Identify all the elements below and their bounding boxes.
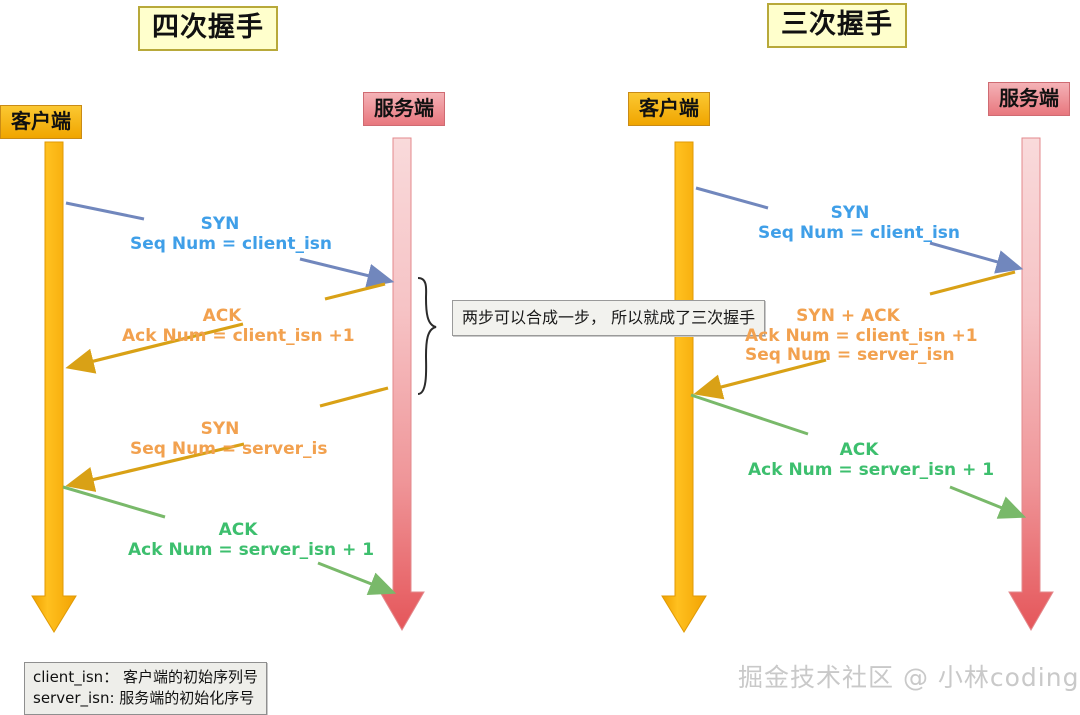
merge-note: 两步可以合成一步， 所以就成了三次握手 [452,300,765,336]
left-message-syn-line-1: Seq Num = client_isn [130,235,310,255]
right-client-label: 客户端 [628,92,710,126]
isn-legend-row-client: client_isn： 客户端的初始序列号 [33,667,258,688]
right-message-syn-ack: SYN + ACK Ack Num = client_isn +1 Seq Nu… [745,307,951,366]
right-message-syn-ack-flag: SYN + ACK [745,307,951,327]
merge-note-line-1: 两步可以合成一步， [462,308,606,327]
right-message-syn-line-1: Seq Num = client_isn [758,224,942,244]
right-message-syn: SYN Seq Num = client_isn [758,204,942,243]
left-message-syn2-line-1: Seq Num = server_is [130,440,310,460]
left-client-timeline [32,142,76,632]
left-message-syn2: SYN Seq Num = server_is [130,420,310,459]
left-message-syn2-flag: SYN [130,420,310,440]
left-message-ack-flag: ACK [122,307,322,327]
right-message-ack: ACK Ack Num = server_isn + 1 [748,441,970,480]
left-message-ack2-flag: ACK [128,521,348,541]
right-server-timeline [1009,138,1053,630]
left-client-label: 客户端 [0,105,82,139]
isn-legend-row-server: server_isn: 服务端的初始化序号 [33,688,258,709]
merge-note-line-2: 所以就成了三次握手 [611,308,755,327]
isn-legend: client_isn： 客户端的初始序列号 server_isn: 服务端的初始… [24,662,267,715]
merge-brace [418,278,436,394]
right-message-syn-ack-line-1: Ack Num = client_isn +1 [745,327,951,347]
left-message-syn-flag: SYN [130,215,310,235]
left-message-ack-line-1: Ack Num = client_isn +1 [122,327,322,347]
right-message-ack-line-1: Ack Num = server_isn + 1 [748,461,970,481]
right-message-syn-flag: SYN [758,204,942,224]
left-server-timeline [380,138,424,630]
left-diagram-title: 四次握手 [138,6,278,51]
left-message-ack2-line-1: Ack Num = server_isn + 1 [128,541,348,561]
right-message-ack-flag: ACK [748,441,970,461]
left-message-syn: SYN Seq Num = client_isn [130,215,310,254]
right-diagram-title: 三次握手 [767,3,907,48]
right-message-syn-ack-line-2: Seq Num = server_isn [745,346,951,366]
right-client-timeline [662,142,706,632]
left-message-ack: ACK Ack Num = client_isn +1 [122,307,322,346]
diagram-canvas: 四次握手 客户端 服务端 SYN Seq Num = client_isn AC… [0,0,1080,709]
right-server-label: 服务端 [988,82,1070,116]
watermark: 掘金技术社区 @ 小林coding [738,658,1079,694]
left-server-label: 服务端 [363,92,445,126]
left-message-ack2: ACK Ack Num = server_isn + 1 [128,521,348,560]
